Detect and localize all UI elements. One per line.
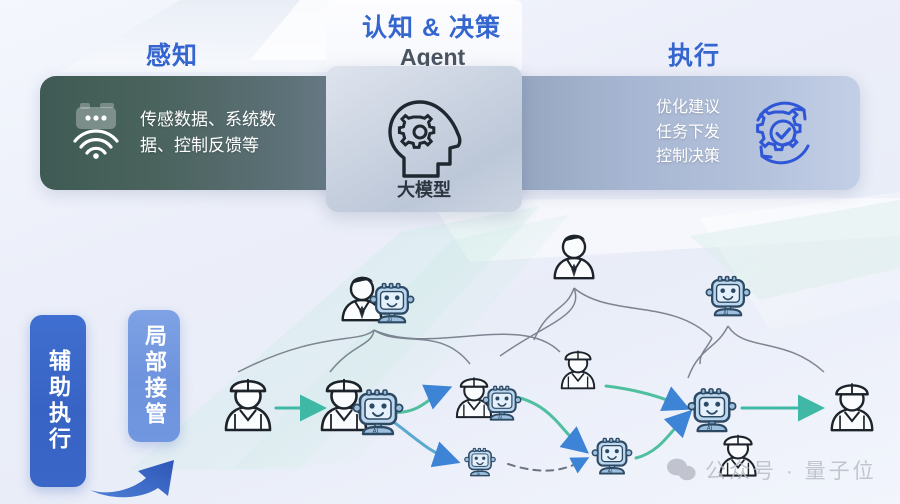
figure-robot-mid-1: [592, 438, 631, 474]
agent-flow-graph: AI: [0, 0, 900, 504]
diagram-canvas: 感知 认知 & 决策 Agent 执行 传感数据、系统数 据、控制反馈等: [0, 0, 900, 504]
figure-manager-robot: [343, 277, 414, 324]
figure-worker-robot-2: [457, 377, 521, 421]
figure-manager-top: [555, 235, 594, 278]
figure-worker-robot-1: [322, 379, 403, 435]
figure-worker-bottom: [720, 435, 755, 476]
figure-worker-mid-right: [562, 351, 595, 389]
figure-robot-small-1: [465, 448, 496, 476]
figure-worker-right: [832, 383, 872, 430]
figure-robot-main: [688, 389, 735, 432]
figure-robot-top: [706, 277, 749, 317]
figure-worker-1: [226, 379, 270, 430]
